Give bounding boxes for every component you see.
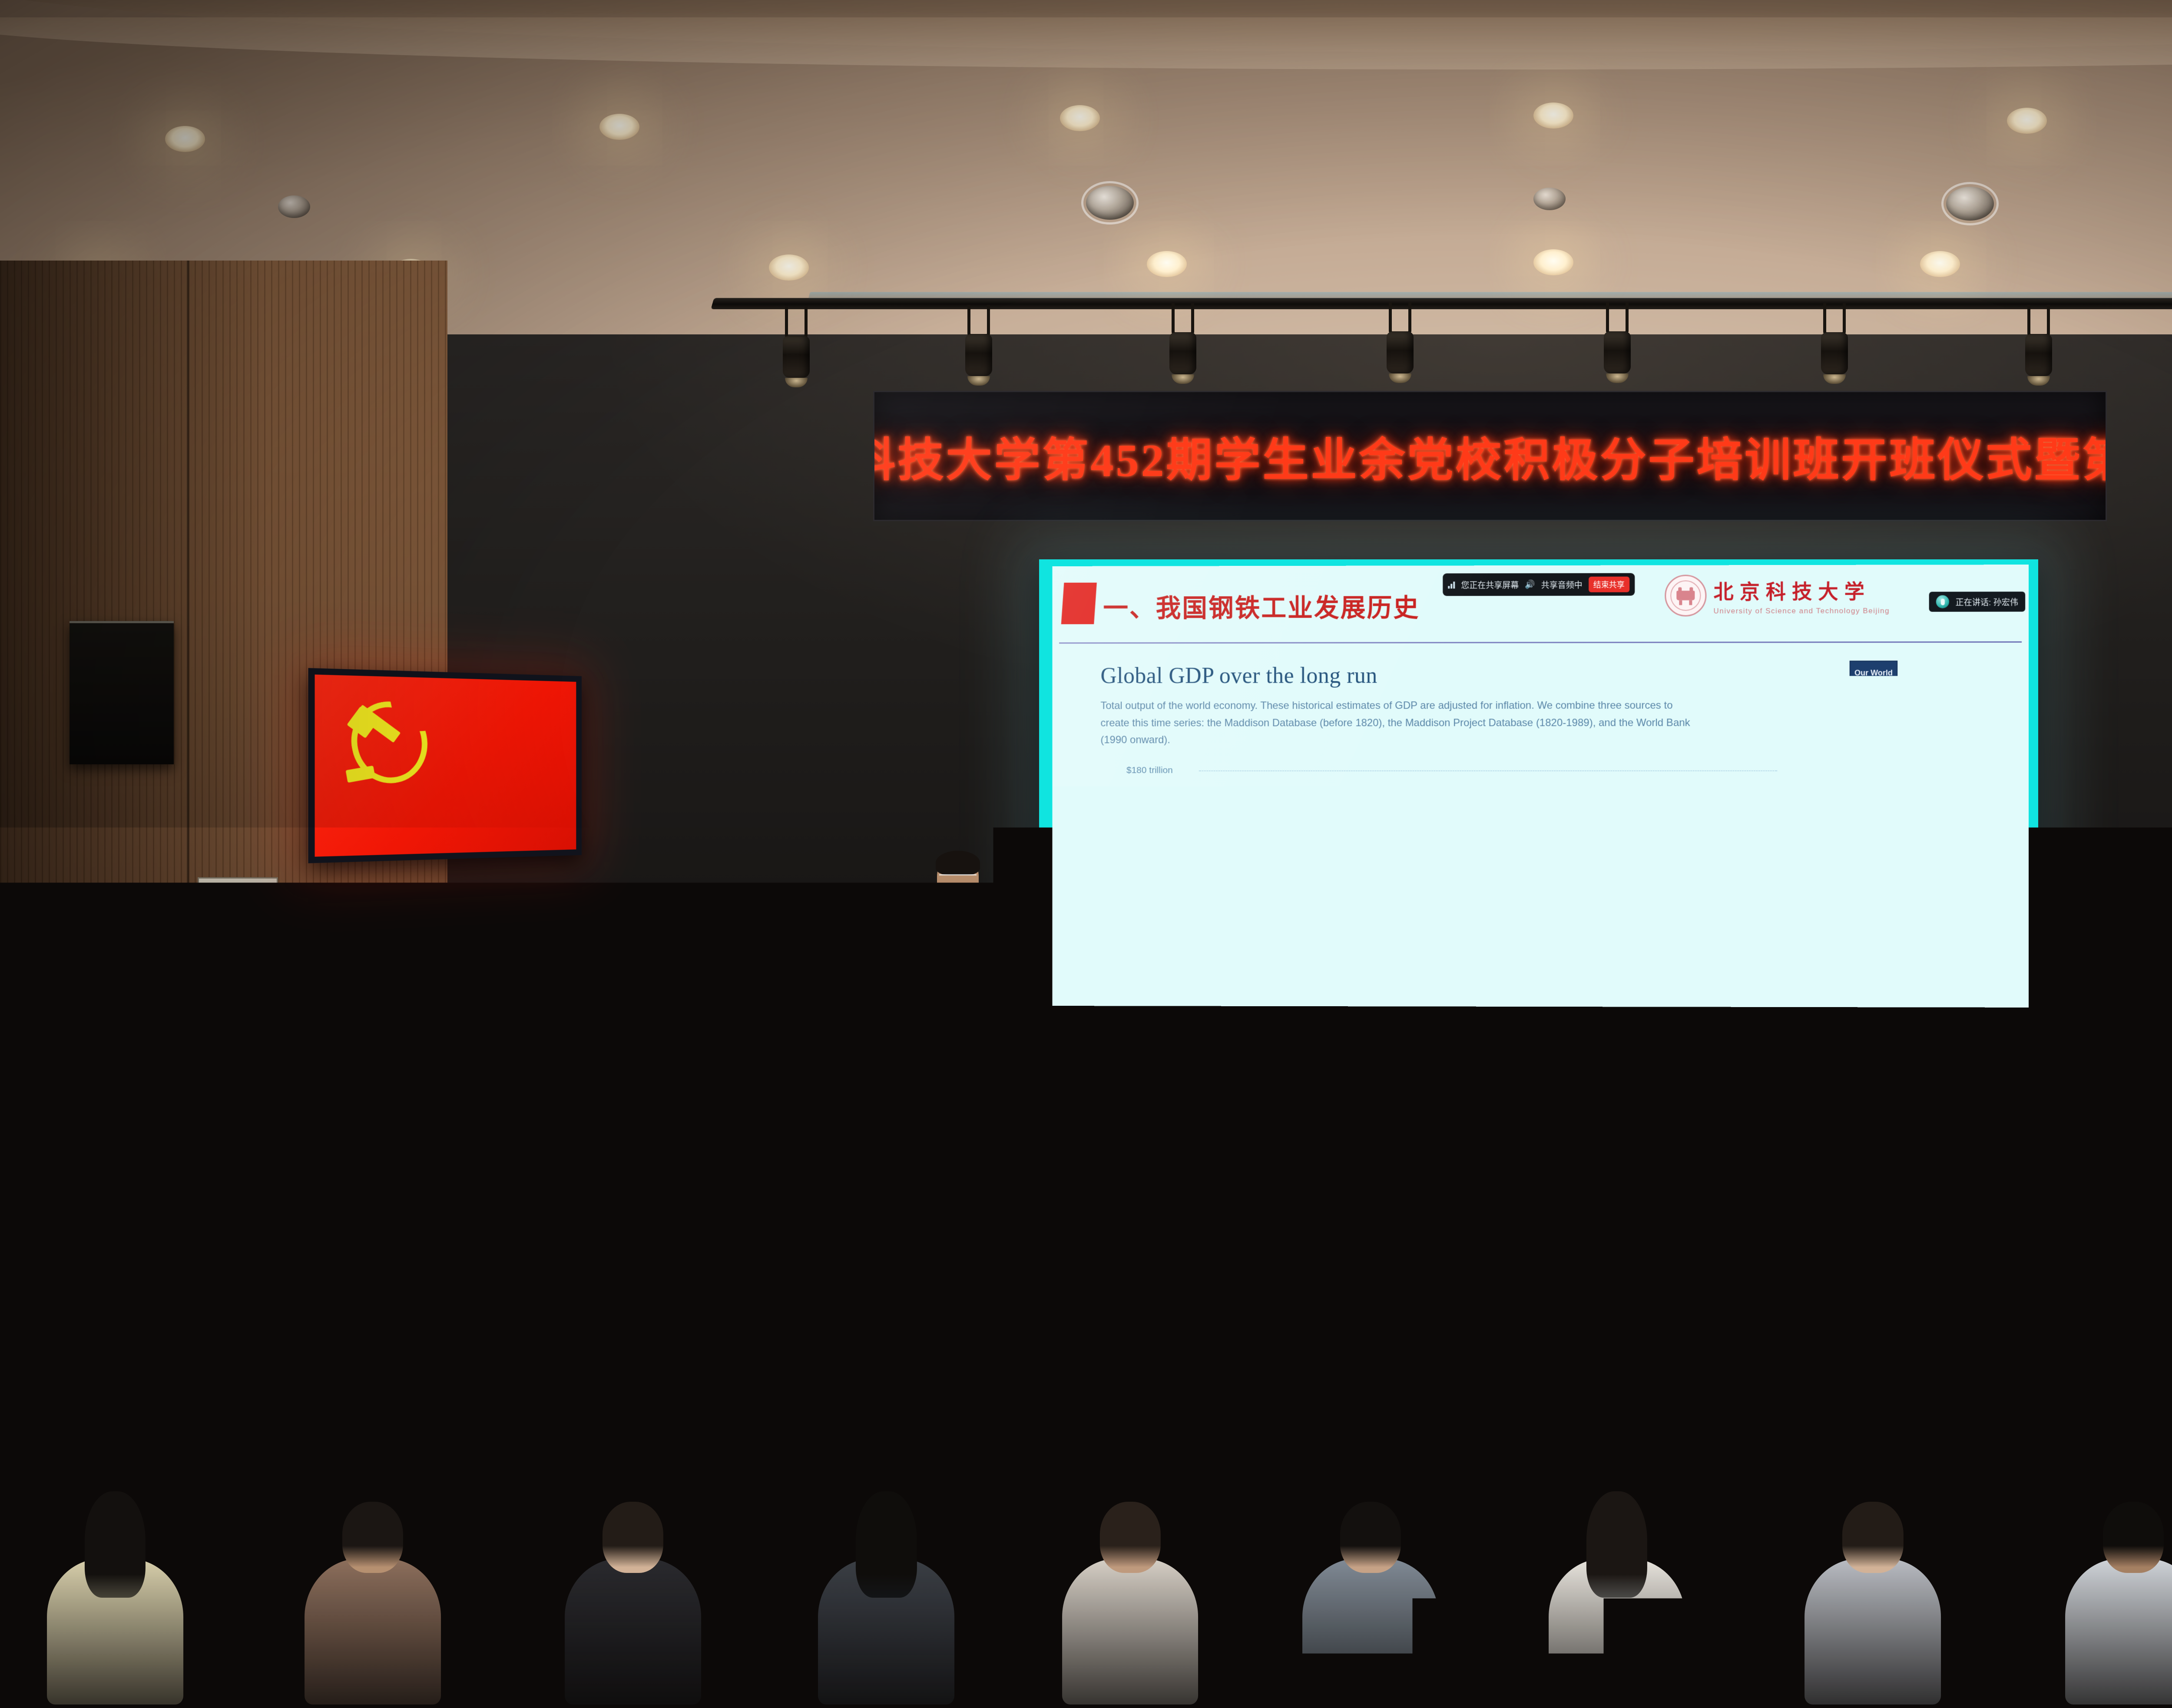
audience-member-head [2103, 1502, 2164, 1573]
audience-member-head [1401, 1236, 1437, 1300]
audience-member [47, 1488, 183, 1705]
audience-member-torso [305, 1559, 441, 1705]
microphone-icon [1936, 595, 1949, 608]
ceiling-downlight [1533, 249, 1573, 275]
lecture-hall-scene: 消防联动控制箱 FIRE CONTROL PANEL ▲ 北 [0, 0, 2172, 1689]
water-bottle [1319, 1229, 1328, 1257]
audience-member-head [502, 1111, 528, 1141]
audience-member-head [1574, 1425, 1626, 1485]
y-axis-tick-label: $120 trillion [1126, 849, 1173, 859]
audience-member-head [1110, 1242, 1147, 1285]
control-panel-knobs[interactable] [211, 924, 265, 931]
audience-member-head [2121, 1107, 2147, 1152]
audience-member-head [702, 1171, 732, 1207]
audience-member-head [2005, 1166, 2036, 1219]
audience-member-head [392, 1107, 418, 1152]
audience-member-head [2019, 1328, 2063, 1378]
y-axis-tick-label: $80 trillion [1126, 904, 1168, 915]
audience-member-head [1550, 1111, 1576, 1141]
audience-member-head [1097, 1171, 1128, 1207]
audience-area: KappaFULL OF HAPPINESSAnta SkateROOSEVEA… [0, 1072, 2172, 1689]
audience-member-head [2013, 1242, 2049, 1285]
audience-member-head [1794, 1425, 1846, 1485]
stage-spotlight [1603, 302, 1632, 383]
presentation-slide[interactable]: 一、我国钢铁工业发展历史 北京科技大学 University of Scienc… [1052, 565, 2029, 1008]
paper-cup [490, 1629, 525, 1674]
audience-member-head [566, 1171, 596, 1207]
control-panel-title: 消防联动控制箱 [216, 888, 259, 896]
owid-badge-line2: in Data [1861, 677, 1887, 687]
audience-member-head [342, 1502, 403, 1573]
led-event-banner: 北京科技大学第452期学生业余党校积极分子培训班开班仪式暨第一讲 [873, 391, 2107, 521]
owid-logo-badge: Our World in Data [1850, 661, 1898, 694]
stage-spotlight [1386, 302, 1414, 383]
status-led-green [220, 911, 231, 918]
audience-member-torso [1465, 1200, 1534, 1274]
panel-knob[interactable] [235, 924, 241, 931]
audience-member-head [1129, 1320, 1173, 1396]
sharing-status-label: 您正在共享屏幕 [1461, 579, 1519, 591]
audience-member-head [595, 1320, 638, 1396]
audience-member-head [351, 1242, 387, 1285]
stage-spotlight [782, 307, 811, 387]
audience-member-torso [2164, 1368, 2172, 1472]
party-flag-display-left [308, 668, 582, 863]
audience-member [2164, 1317, 2172, 1472]
audience-member [565, 1488, 701, 1705]
ceiling-downlight [1533, 102, 1573, 129]
ceiling-downlight [2007, 108, 2047, 134]
audience-member-head [856, 1491, 917, 1598]
led-banner-text: 北京科技大学第452期学生业余党校积极分子培训班开班仪式暨第一讲 [873, 423, 2107, 489]
gridline [1199, 826, 1777, 827]
audience-member-head [1556, 1242, 1592, 1285]
ustb-seal-icon [1665, 575, 1706, 616]
audience-member-torso [385, 1368, 482, 1472]
university-wordmark: 北京科技大学 University of Science and Technol… [1714, 575, 1890, 615]
audio-status-label: 共享音频中 [1541, 578, 1583, 590]
ceiling-downlight [1060, 105, 1100, 131]
active-speaker-chip: 正在讲话: 孙宏伟 [1929, 591, 2025, 611]
audience-member-torso [1445, 1368, 1542, 1472]
audience-member-head [1621, 1166, 1652, 1219]
audience-member-head [966, 1236, 1002, 1300]
owid-badge-line1: Our World [1854, 669, 1893, 678]
audience-member-head [508, 1425, 560, 1485]
emoji-icon[interactable] [1071, 938, 1082, 948]
audience-member-head [732, 1416, 784, 1506]
audience-member-head [312, 1171, 343, 1207]
hammer-sickle-icon [351, 701, 427, 784]
audience-member-head [1484, 1171, 1515, 1207]
audience-member [818, 1488, 954, 1705]
ceiling-downlight [599, 114, 639, 140]
audience-member-head [1157, 1425, 1209, 1485]
audience-member-head [1586, 1491, 1647, 1598]
audience-member [1533, 1233, 1615, 1364]
panel-knob[interactable] [246, 924, 253, 931]
audience-member-torso [1302, 1559, 1439, 1705]
wall-speaker [70, 621, 174, 764]
audience-member-torso [1533, 1276, 1615, 1364]
presenter-glasses [939, 874, 977, 882]
audience-member [486, 1105, 544, 1197]
chart-plot-area: $0$20 trillion$40 trillion$60 trillion$8… [1126, 763, 1777, 1008]
control-panel-leds [220, 911, 256, 918]
audience-member-head [656, 1242, 692, 1285]
chat-input-pill[interactable]: 说点什么... [1064, 932, 1140, 954]
chart-subtitle: Total output of the world economy. These… [1100, 697, 1699, 749]
speaker-volume-icon: 🔊 [1525, 579, 1535, 590]
audience-member-head [2018, 1416, 2069, 1506]
audience-member [2065, 1488, 2172, 1705]
ceiling-dome-speaker [1946, 187, 1994, 221]
audience-member-torso [1534, 1135, 1592, 1197]
audience-member-head [1842, 1502, 1903, 1573]
status-led-green [245, 911, 256, 918]
y-axis-tick-label: $100 trillion [1126, 876, 1173, 887]
audience-member [1534, 1105, 1592, 1197]
audience-member [1202, 1164, 1271, 1274]
ceiling-downlight [769, 254, 809, 281]
cpc-flag [315, 674, 576, 856]
panel-knob[interactable] [223, 924, 229, 931]
chat-placeholder-label: 说点什么... [1087, 936, 1131, 949]
audience-member-head [436, 1166, 467, 1219]
audience-member-head [1755, 1171, 1785, 1207]
y-axis-tick-label: $160 trillion [1126, 793, 1173, 803]
audience-member-head [1472, 1328, 1515, 1378]
audience-member-torso [2065, 1559, 2172, 1705]
audience-member-head [959, 1328, 1002, 1378]
party-pin-badge [968, 912, 976, 919]
y-axis-tick-label: $40 trillion [1126, 960, 1168, 970]
audience-member-head [64, 1236, 100, 1300]
audience-member-head [617, 1111, 643, 1141]
audience-member-head [412, 1328, 455, 1378]
audience-member-head [1086, 1107, 1112, 1152]
ceiling-soffit-inner [0, 17, 2172, 69]
audience-member [1413, 1105, 1471, 1197]
ceiling-downlight [1147, 251, 1187, 277]
audience-member [1302, 1488, 1439, 1705]
screen-share-toolbar[interactable]: 您正在共享屏幕 🔊 共享音频中 结束共享 [1443, 573, 1635, 596]
audience-member-head [2132, 1171, 2163, 1207]
active-speaker-label: 正在讲话: 孙宏伟 [1955, 596, 2018, 608]
title-accent-block [1061, 583, 1097, 624]
audience-member-head [737, 1107, 763, 1152]
university-name-en: University of Science and Technology Bei… [1714, 606, 1890, 615]
audience-member-head [1781, 1107, 1807, 1152]
slide-page-number: 4 [2000, 971, 2009, 992]
audience-member-head [1669, 1111, 1695, 1141]
y-axis-tick-label: $20 trillion [1126, 988, 1168, 998]
gdp-curve [1199, 763, 1777, 1008]
audience-member-head [1340, 1502, 1401, 1573]
stop-share-button[interactable]: 结束共享 [1589, 577, 1629, 592]
audience-member-head [971, 1171, 1002, 1207]
ding-vessel-icon [1675, 587, 1696, 605]
lectern-top [871, 941, 1041, 982]
audience-member-head [1838, 1328, 1882, 1378]
audience-member-head [281, 1111, 308, 1141]
stage-spotlight [2024, 305, 2053, 386]
gridline [1199, 798, 1777, 799]
audience-member-head [813, 1242, 850, 1285]
audience-member-head [1298, 1328, 1341, 1378]
warning-mark-icon: ▲ [232, 946, 244, 959]
stage-lighting-truss [711, 298, 2172, 309]
audience-member [385, 1317, 482, 1472]
signal-bars-icon [1448, 581, 1455, 588]
ceiling-downlight [1920, 251, 1960, 277]
audience-member-head [949, 1425, 1001, 1485]
audience-member-head [1653, 1320, 1697, 1396]
audience-member [700, 1413, 816, 1597]
audience-member-head [1221, 1166, 1252, 1219]
audience-member-torso [486, 1135, 544, 1197]
university-name-cn: 北京科技大学 [1714, 575, 1890, 605]
audience-member [1465, 1164, 1534, 1274]
audience-member-head [187, 1171, 218, 1207]
slide-header: 一、我国钢铁工业发展历史 北京科技大学 University of Scienc… [1052, 565, 2029, 643]
audience-member [1445, 1317, 1542, 1472]
audience-member-head [237, 1328, 280, 1378]
audience-member-head [68, 1320, 111, 1396]
audience-member-head [838, 1166, 869, 1219]
y-axis-tick-label: $180 trillion [1126, 765, 1173, 776]
projection-screen[interactable]: 一、我国钢铁工业发展历史 北京科技大学 University of Scienc… [1039, 559, 2038, 1024]
audience-member [1549, 1488, 1685, 1705]
ceiling-downlight [165, 126, 205, 152]
stage-spotlight [964, 305, 993, 386]
audience-member [1062, 1488, 1199, 1705]
audience-member-head [166, 1111, 192, 1141]
panel-knob[interactable] [211, 924, 218, 931]
audience-member [305, 1488, 441, 1705]
audience-member-head [1429, 1107, 1455, 1152]
audience-member-head [2003, 1111, 2029, 1141]
university-logo: 北京科技大学 University of Science and Technol… [1665, 575, 1890, 617]
audience-member-head [975, 1111, 1001, 1141]
presenter-hair [936, 851, 980, 875]
audience-member-head [1196, 1111, 1222, 1141]
audience-member-head [85, 1491, 146, 1598]
panel-knob[interactable] [258, 924, 265, 931]
audience-member-head [45, 1107, 71, 1152]
audience-member-head [603, 1502, 663, 1573]
ceiling-dome-speaker [1086, 186, 1134, 220]
audience-member-head [56, 1166, 86, 1219]
audience-member-head [208, 1242, 245, 1285]
audience-member [477, 1233, 560, 1364]
fire-control-panel[interactable]: 消防联动控制箱 FIRE CONTROL PANEL ▲ [198, 877, 278, 973]
stage-spotlight [1820, 303, 1849, 384]
gridline [1199, 770, 1777, 771]
audience-member-torso [1062, 1559, 1199, 1705]
audience-member-torso [1804, 1559, 1941, 1705]
stage-spotlight [1169, 303, 1197, 384]
slide-section-title: 一、我国钢铁工业发展历史 [1103, 587, 1420, 624]
audience-member [417, 1164, 486, 1274]
audience-member-head [1713, 1242, 1750, 1285]
owid-chart-block: Global GDP over the long run Total outpu… [1052, 642, 2029, 1008]
audience-member-head [500, 1236, 536, 1300]
audience-member-head [287, 1425, 338, 1485]
control-panel-subtitle: FIRE CONTROL PANEL [216, 900, 259, 905]
ceiling-dome-speaker [278, 195, 310, 218]
ceiling-dome-speaker [1533, 188, 1566, 210]
audience-member [1805, 1488, 1941, 1705]
audience-member-torso [565, 1559, 701, 1705]
y-axis-tick-label: $140 trillion [1126, 821, 1173, 831]
audience-member-head [858, 1111, 884, 1141]
audience-member-head [1099, 1502, 1160, 1573]
audience-member-head [780, 1328, 823, 1378]
